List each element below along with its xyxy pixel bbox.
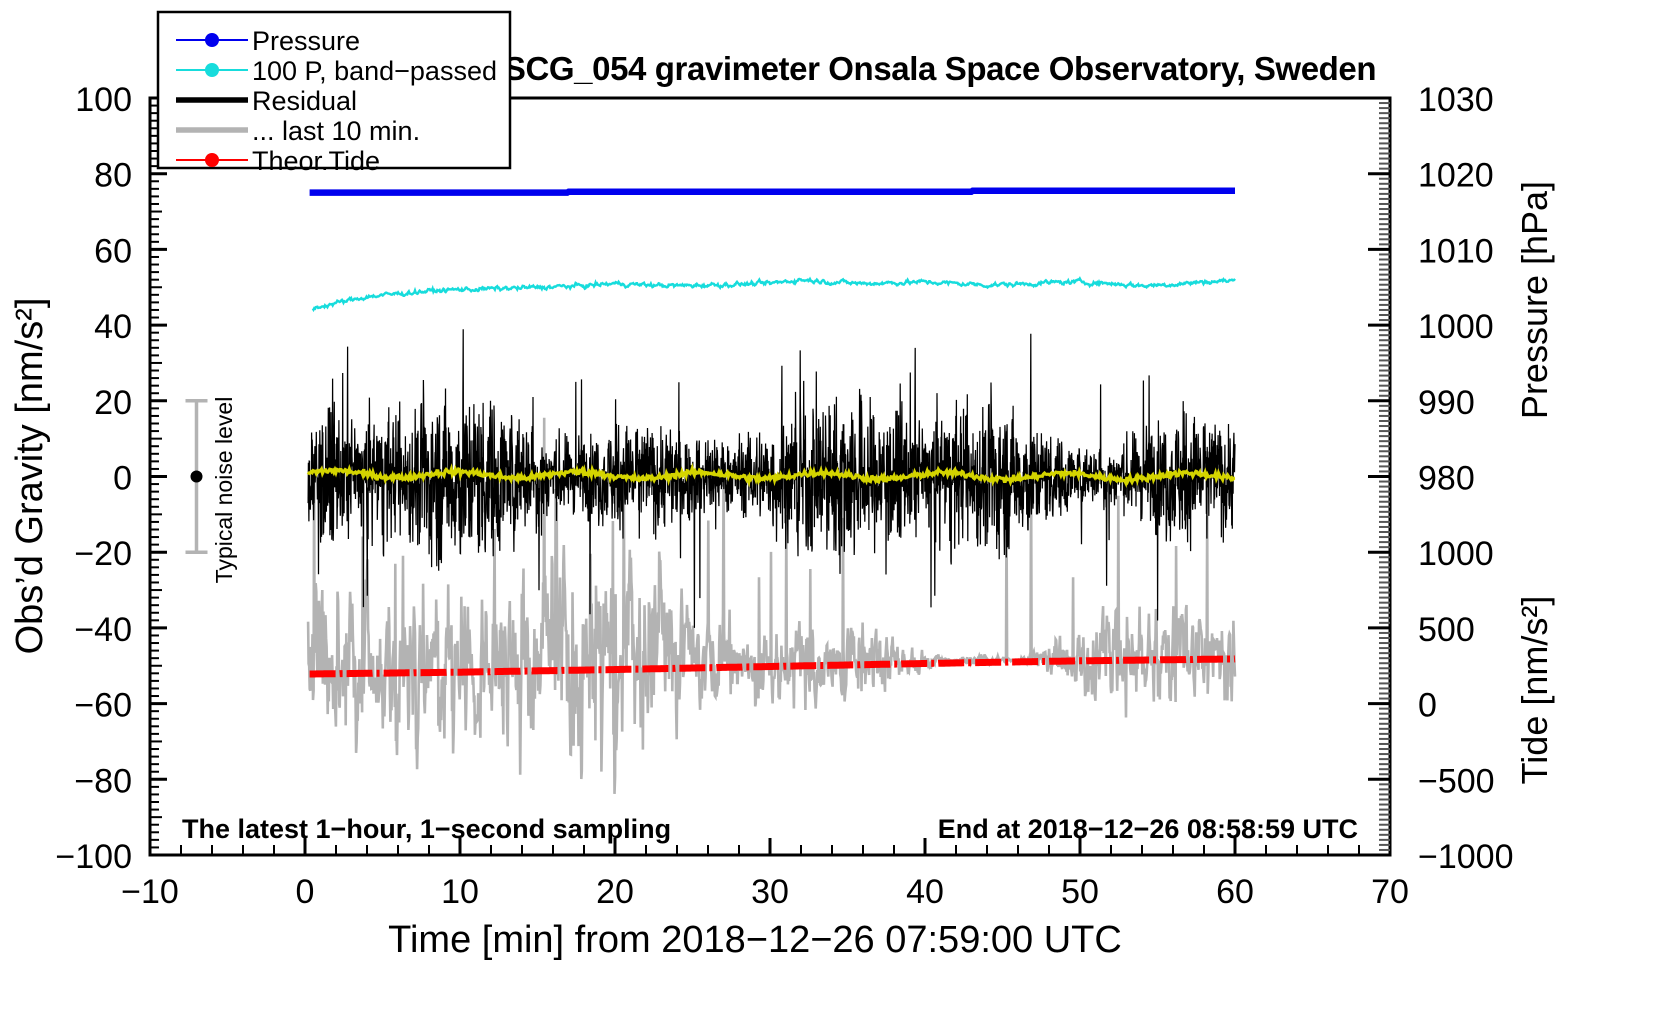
- left-axis-ticks: [150, 98, 167, 855]
- left-tick-label: −100: [55, 838, 132, 876]
- pressure-tick-label: 990: [1418, 384, 1475, 422]
- bottom-tick-label: 0: [296, 873, 315, 911]
- page-title: SCG_054 gravimeter Onsala Space Observat…: [504, 50, 1376, 87]
- trace-band-passed: [313, 279, 1235, 310]
- pressure-tick-label: 1030: [1418, 81, 1494, 119]
- tide-axis-tick-labels: 10005000−500−1000: [1418, 535, 1514, 876]
- bottom-tick-label: 10: [441, 873, 479, 911]
- noise-level-label: Typical noise level: [211, 397, 237, 584]
- left-tick-label: 20: [94, 384, 132, 422]
- legend-label: Pressure: [252, 26, 360, 56]
- pressure-tick-label: 1020: [1418, 157, 1494, 195]
- gravimeter-plot: 100806040200−20−40−60−80−100 −1001020304…: [0, 0, 1660, 1020]
- pressure-line: [310, 191, 1235, 193]
- legend-swatch-marker: [205, 33, 219, 47]
- annotation-bottom-left: The latest 1−hour, 1−second sampling: [182, 814, 671, 844]
- legend-label: 100 P, band−passed: [252, 56, 497, 86]
- legend-swatch-marker: [205, 63, 219, 77]
- left-axis-tick-labels: 100806040200−20−40−60−80−100: [55, 81, 132, 876]
- pressure-axis-tick-labels: 1030102010101000990980: [1418, 81, 1494, 498]
- legend-label: ... last 10 min.: [252, 116, 420, 146]
- bottom-tick-label: 40: [906, 873, 944, 911]
- right-axis-ticks: [1368, 98, 1390, 855]
- legend-label: Theor.Tide: [252, 146, 380, 176]
- bottom-axis-tick-labels: −10010203040506070: [121, 873, 1409, 911]
- bottom-tick-label: 60: [1216, 873, 1254, 911]
- left-axis-title: Obs’d Gravity [nm/s²]: [9, 298, 51, 655]
- bottom-tick-label: 30: [751, 873, 789, 911]
- band-passed-line: [313, 279, 1235, 310]
- left-tick-label: 60: [94, 232, 132, 270]
- legend-swatch-marker: [205, 153, 219, 167]
- data-traces: [308, 191, 1235, 794]
- noise-level-marker: [186, 401, 208, 552]
- pressure-tick-label: 1010: [1418, 232, 1494, 270]
- pressure-tick-label: 1000: [1418, 308, 1494, 346]
- tide-axis-title: Tide [nm/s²]: [1514, 596, 1555, 785]
- tide-tick-label: 0: [1418, 687, 1437, 725]
- bottom-tick-label: −10: [121, 873, 179, 911]
- tide-tick-label: 1000: [1418, 535, 1494, 573]
- left-tick-label: −60: [74, 687, 132, 725]
- left-tick-label: −40: [74, 611, 132, 649]
- left-tick-label: 0: [113, 460, 132, 498]
- left-tick-label: 100: [75, 81, 132, 119]
- bottom-axis-title: Time [min] from 2018−12−26 07:59:00 UTC: [388, 919, 1122, 961]
- bottom-tick-label: 70: [1371, 873, 1409, 911]
- legend[interactable]: Pressure100 P, band−passedResidual... la…: [158, 12, 510, 176]
- left-tick-label: −80: [74, 762, 132, 800]
- bottom-tick-label: 20: [596, 873, 634, 911]
- trace-pressure: [310, 191, 1235, 193]
- tide-tick-label: −1000: [1418, 838, 1514, 876]
- chart-canvas: 100806040200−20−40−60−80−100 −1001020304…: [0, 0, 1660, 1020]
- tide-tick-label: 500: [1418, 611, 1475, 649]
- left-tick-label: 40: [94, 308, 132, 346]
- left-tick-label: −20: [74, 535, 132, 573]
- bottom-tick-label: 50: [1061, 873, 1099, 911]
- tide-tick-label: −500: [1418, 762, 1495, 800]
- pressure-axis-title: Pressure [hPa]: [1514, 181, 1555, 419]
- pressure-tick-label: 980: [1418, 460, 1475, 498]
- annotation-bottom-right: End at 2018−12−26 08:58:59 UTC: [938, 814, 1358, 844]
- left-tick-label: 80: [94, 157, 132, 195]
- legend-label: Residual: [252, 86, 357, 116]
